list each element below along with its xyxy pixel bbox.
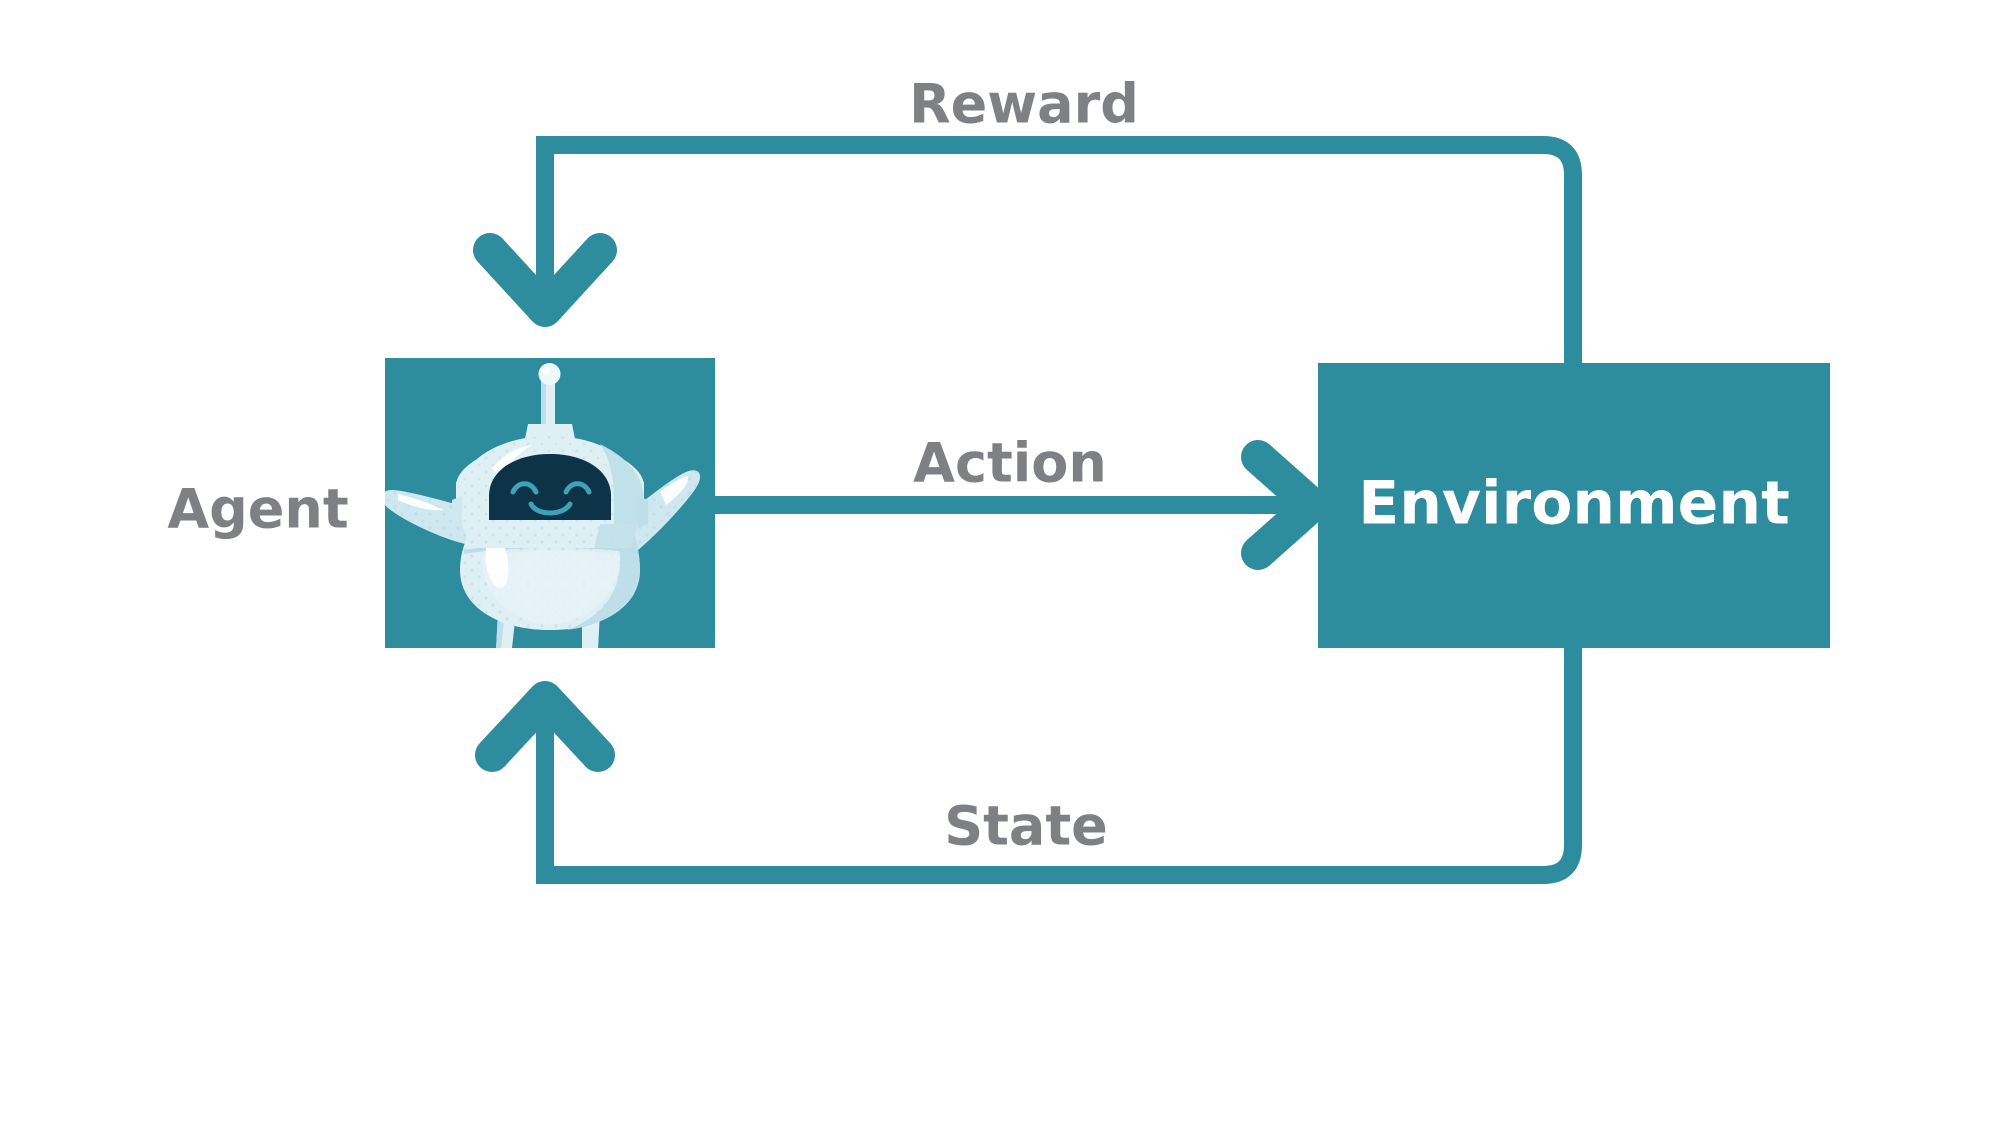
diagram-canvas: Environment Agent Reward Action State <box>0 0 1999 1125</box>
reward-edge <box>490 145 1573 363</box>
environment-label: Environment <box>1358 469 1790 539</box>
action-label: Action <box>913 432 1107 495</box>
state-label: State <box>944 795 1108 858</box>
rl-loop-diagram: Environment Agent Reward Action State <box>0 0 1999 1125</box>
reward-edge-line <box>545 145 1573 363</box>
agent-node[interactable] <box>382 358 715 656</box>
reward-label: Reward <box>909 73 1139 136</box>
environment-node[interactable]: Environment <box>1318 363 1830 648</box>
agent-label: Agent <box>167 478 348 541</box>
